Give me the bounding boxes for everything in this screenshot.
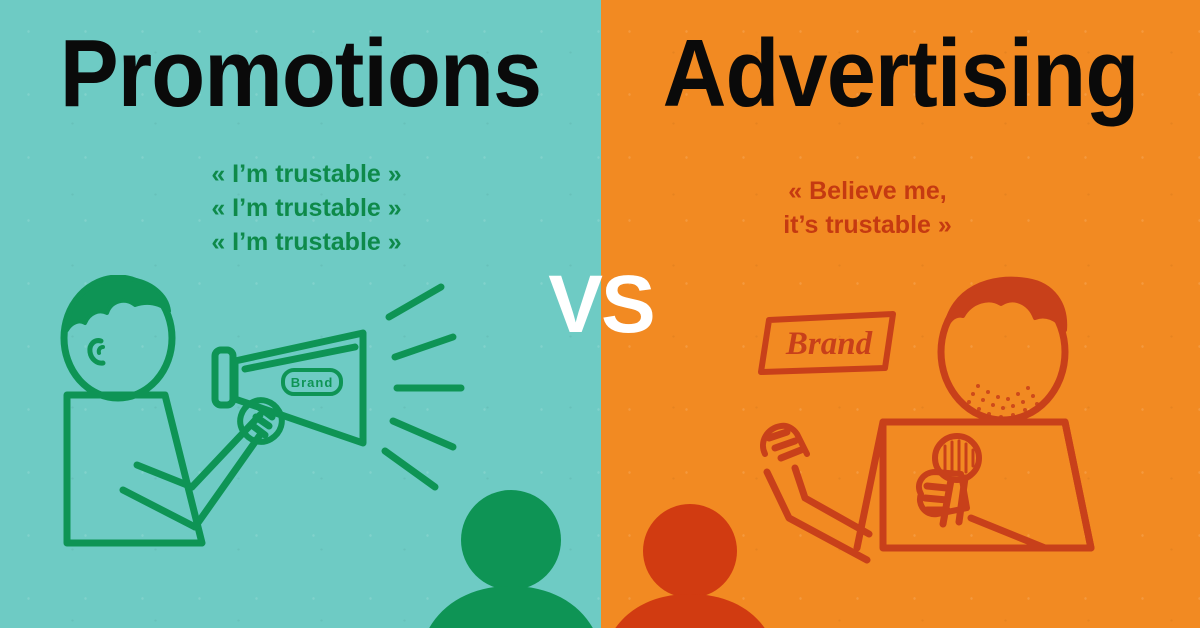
right-silhouette <box>602 504 778 628</box>
comparison-poster: Promotions Advertising « I’m trustable »… <box>0 0 1200 628</box>
left-silhouette <box>419 490 603 628</box>
versus-label: VS <box>548 264 653 346</box>
